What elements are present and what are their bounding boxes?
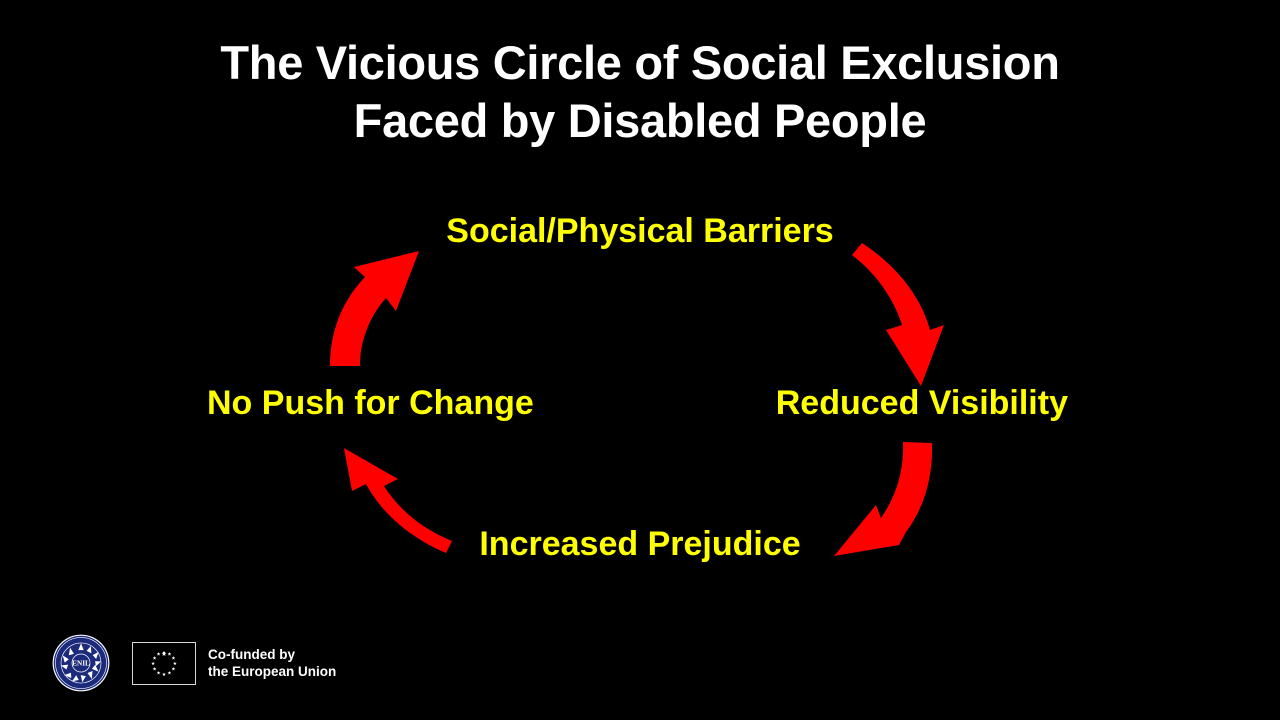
page-title-line-1: The Vicious Circle of Social Exclusion xyxy=(0,34,1280,92)
page-title-line-2: Faced by Disabled People xyxy=(0,92,1280,150)
eu-flag-icon xyxy=(132,642,196,685)
eu-funding-line-2: the European Union xyxy=(208,663,336,680)
top-right-arrow xyxy=(852,243,944,386)
cycle-node-label-bottom: Increased Prejudice xyxy=(0,525,1280,563)
footer-logos: ENIL Co-funded by the European Union xyxy=(52,634,336,692)
page-title: The Vicious Circle of Social Exclusion F… xyxy=(0,34,1280,150)
slide-canvas: The Vicious Circle of Social Exclusion F… xyxy=(0,0,1280,720)
top-left-arrow xyxy=(330,251,419,366)
cycle-node-label-right: Reduced Visibility xyxy=(776,384,1068,422)
eu-funding-line-1: Co-funded by xyxy=(208,646,336,663)
svg-text:ENIL: ENIL xyxy=(72,660,90,668)
cycle-node-label-left: No Push for Change xyxy=(207,384,534,422)
cycle-node-label-top: Social/Physical Barriers xyxy=(0,212,1280,250)
eu-funding-text: Co-funded by the European Union xyxy=(208,646,336,680)
eu-funding-block: Co-funded by the European Union xyxy=(132,642,336,685)
enil-seal-icon: ENIL xyxy=(52,634,110,692)
